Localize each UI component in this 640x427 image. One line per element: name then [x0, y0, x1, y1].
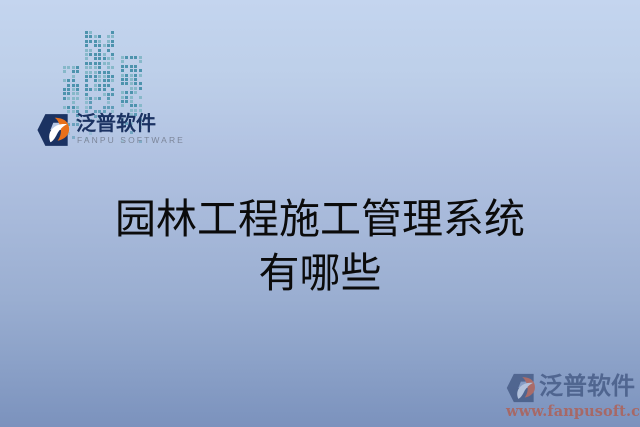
page-title: 园林工程施工管理系统 有哪些 [0, 192, 640, 300]
fanpu-logo-mark-icon [36, 112, 72, 148]
brand-logo-company-cn: 泛普软件 [76, 111, 156, 135]
brand-logo-company-en: FANPU SOFTWARE [77, 135, 185, 145]
pixel-buildings-graphic [60, 28, 152, 116]
fanpu-logo-mark-watermark-icon [505, 372, 538, 404]
brand-logo: 泛普软件 FANPU SOFTWARE [36, 111, 176, 153]
watermark-url: www.fanpusoft.com [506, 403, 640, 420]
slide-canvas: 泛普软件 FANPU SOFTWARE 园林工程施工管理系统 有哪些 泛普软件 … [0, 0, 640, 427]
watermark-company-cn: 泛普软件 [539, 371, 635, 401]
watermark: 泛普软件 www.fanpusoft.com [505, 370, 637, 420]
page-title-line-2: 有哪些 [0, 246, 640, 300]
page-title-line-1: 园林工程施工管理系统 [0, 192, 640, 246]
